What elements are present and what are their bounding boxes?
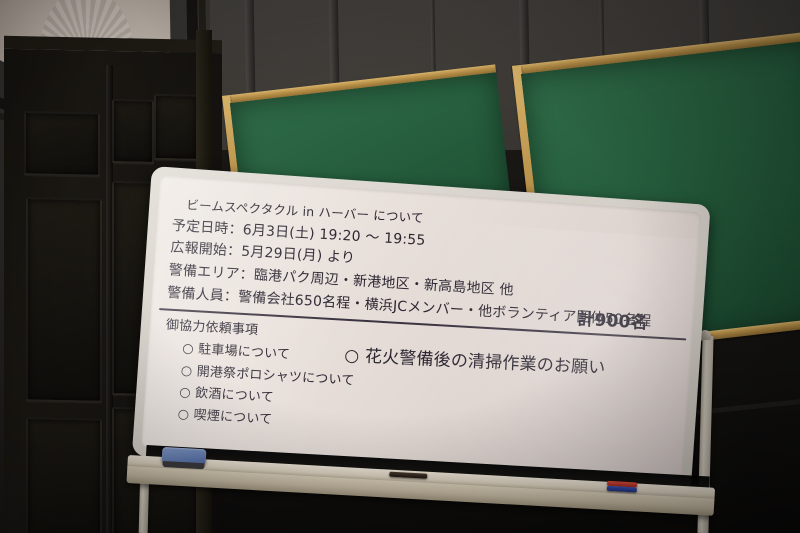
photo-scene: ビームスペクタクル in ハーバー について 予定日時：6月3日(土) 19:2… (0, 0, 800, 533)
whiteboard-total-count: 計900名 (577, 305, 649, 334)
door-panel (26, 417, 102, 533)
whiteboard-bullet-parking: ○ 駐車場について (182, 337, 291, 362)
whiteboard[interactable]: ビームスペクタクル in ハーバー について 予定日時：6月3日(土) 19:2… (132, 166, 711, 494)
door-panel (24, 111, 100, 177)
door-panel (154, 94, 198, 161)
whiteboard-cleanup-note: ○ 花火警備後の清掃作業のお願い (344, 341, 606, 379)
door-panel (112, 99, 154, 164)
whiteboard-section-heading: 御協力依頼事項 (165, 314, 258, 338)
whiteboard-bullet-drinking: ○ 飲酒について (179, 381, 275, 406)
door-panel (26, 197, 102, 403)
whiteboard-bullet-smoking: ○ 喫煙について (177, 403, 273, 428)
whiteboard-surface[interactable]: ビームスペクタクル in ハーバー について 予定日時：6月3日(土) 19:2… (141, 175, 701, 485)
